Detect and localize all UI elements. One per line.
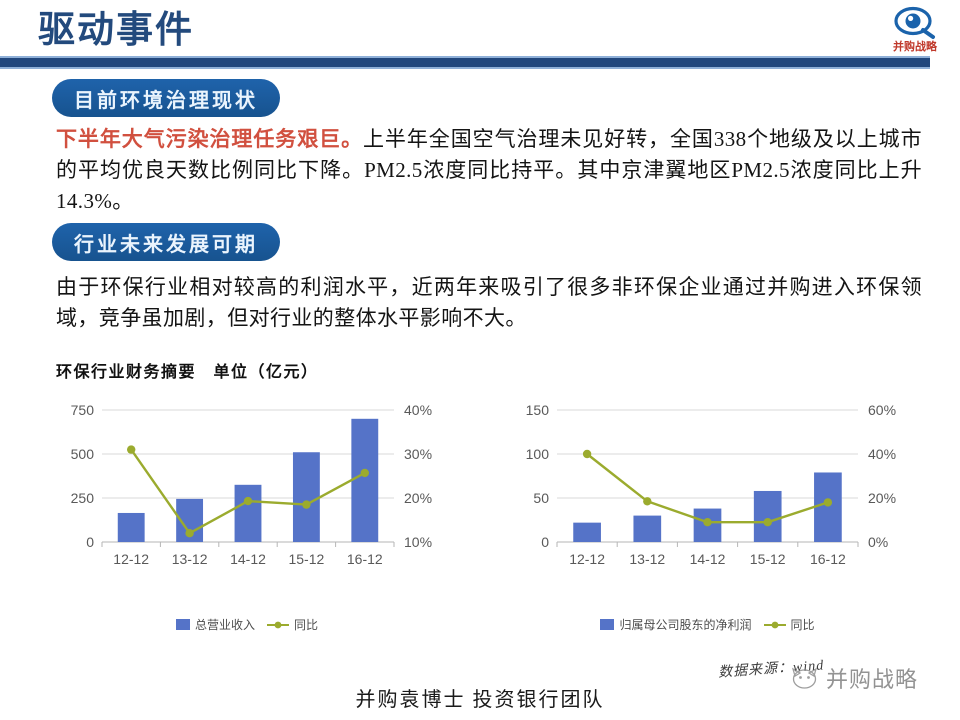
svg-text:40%: 40% [868, 446, 896, 462]
title-divider-bar [0, 56, 930, 69]
total-revenue-legend: 总营业收入 同比 [52, 616, 442, 633]
charts-caption: 环保行业财务摘要 单位（亿元） [56, 358, 319, 382]
svg-text:750: 750 [71, 402, 95, 418]
svg-text:15-12: 15-12 [750, 551, 786, 567]
net-profit-chart: 0501001500%20%40%60%12-1213-1214-1215-12… [505, 398, 910, 648]
svg-text:12-12: 12-12 [569, 551, 605, 567]
legend-item-line: 同比 [267, 616, 318, 633]
paragraph-body: 由于环保行业相对较高的利润水平，近两年来吸引了很多非环保企业通过并购进入环保领域… [56, 275, 922, 330]
svg-text:0: 0 [86, 534, 94, 550]
section-pill-environment-status[interactable]: 目前环境治理现状 [52, 79, 280, 117]
section-paragraph-industry-outlook: 由于环保行业相对较高的利润水平，近两年来吸引了很多非环保企业通过并购进入环保领域… [56, 272, 922, 334]
svg-text:0%: 0% [868, 534, 888, 550]
svg-text:14-12: 14-12 [230, 551, 266, 567]
legend-bar-label: 归属母公司股东的净利润 [619, 616, 751, 633]
total-revenue-plot-area: 025050075010%20%30%40%12-1213-1214-1215-… [52, 398, 442, 580]
svg-text:13-12: 13-12 [629, 551, 665, 567]
footer-credit: 并购袁博士 投资银行团队 [0, 683, 960, 712]
legend-bar-swatch [176, 619, 190, 630]
section-pill-industry-outlook[interactable]: 行业未来发展可期 [52, 223, 280, 261]
svg-text:16-12: 16-12 [347, 551, 383, 567]
total-revenue-svg: 025050075010%20%30%40%12-1213-1214-1215-… [52, 398, 442, 580]
svg-text:20%: 20% [404, 490, 432, 506]
legend-item-line: 同比 [764, 616, 815, 633]
svg-text:40%: 40% [404, 402, 432, 418]
legend-line-swatch [764, 620, 786, 630]
svg-text:15-12: 15-12 [288, 551, 324, 567]
svg-text:60%: 60% [868, 402, 896, 418]
legend-line-swatch [267, 620, 289, 630]
svg-text:12-12: 12-12 [113, 551, 149, 567]
legend-line-label: 同比 [791, 616, 815, 633]
eye-magnifier-icon [893, 6, 937, 40]
legend-item-bar: 总营业收入 [176, 616, 255, 633]
net-profit-legend: 归属母公司股东的净利润 同比 [505, 616, 910, 633]
svg-text:13-12: 13-12 [172, 551, 208, 567]
svg-text:10%: 10% [404, 534, 432, 550]
paragraph-highlight: 下半年大气污染治理任务艰巨。 [56, 127, 363, 151]
legend-line-label: 同比 [294, 616, 318, 633]
legend-item-bar: 归属母公司股东的净利润 [600, 616, 751, 633]
svg-text:16-12: 16-12 [810, 551, 846, 567]
legend-bar-label: 总营业收入 [195, 616, 255, 633]
svg-text:50: 50 [533, 490, 549, 506]
svg-text:150: 150 [526, 402, 550, 418]
legend-bar-swatch [600, 619, 614, 630]
svg-text:14-12: 14-12 [690, 551, 726, 567]
svg-text:500: 500 [71, 446, 95, 462]
page-title: 驱动事件 [38, 8, 194, 54]
svg-text:0: 0 [541, 534, 549, 550]
logo-label: 并购战略 [882, 41, 948, 53]
svg-text:20%: 20% [868, 490, 896, 506]
net-profit-plot-area: 0501001500%20%40%60%12-1213-1214-1215-12… [505, 398, 910, 580]
brand-logo: 并购战略 [882, 6, 948, 64]
net-profit-svg: 0501001500%20%40%60%12-1213-1214-1215-12… [505, 398, 910, 580]
section-paragraph-environment-status: 下半年大气污染治理任务艰巨。上半年全国空气治理未见好转，全国338个地级及以上城… [56, 124, 922, 217]
total-revenue-chart: 025050075010%20%30%40%12-1213-1214-1215-… [52, 398, 442, 648]
svg-text:250: 250 [71, 490, 95, 506]
svg-text:100: 100 [526, 446, 550, 462]
svg-text:30%: 30% [404, 446, 432, 462]
